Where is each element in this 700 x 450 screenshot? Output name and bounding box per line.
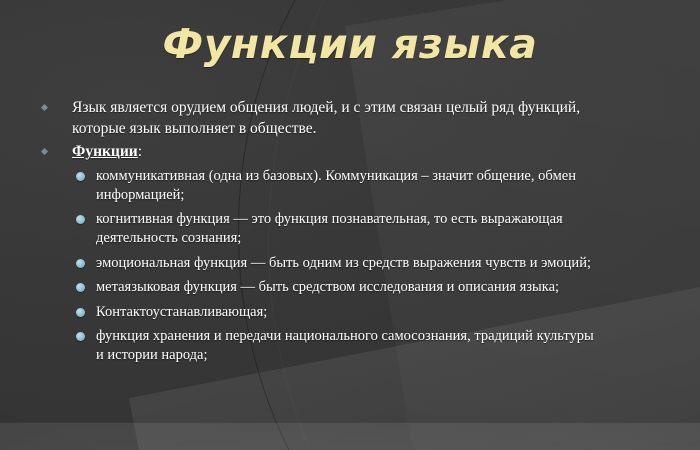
list-item: эмоциональная функция — быть одним из ср… [0,254,700,273]
list-item: Язык является орудием общения людей, и с… [0,98,700,139]
slide-title: Функции языка [0,20,700,68]
circle-bullet-icon [76,308,85,317]
list-item-text: Язык является орудием общения людей, и с… [72,99,580,137]
list-item-text: Контактоустанавливающая; [96,304,267,320]
list-item: Контактоустанавливающая; [0,303,700,322]
slide-body: Язык является орудием общения людей, и с… [0,98,700,371]
list-item: когнитивная функция — это функция познав… [0,210,700,248]
list-item-text: эмоциональная функция — быть одним из ср… [96,255,591,271]
bullet-list-level1: Язык является орудием общения людей, и с… [0,98,700,163]
list-item: метаязыковая функция — быть средством ис… [0,278,700,297]
circle-bullet-icon [76,332,85,341]
presentation-slide: Функции языка Язык является орудием обще… [0,0,700,450]
circle-bullet-icon [76,215,85,224]
diamond-bullet-icon [41,148,48,155]
list-item: функция хранения и передачи национальног… [0,327,700,365]
list-item: Функции: [0,142,700,163]
functions-heading-suffix: : [138,143,142,160]
circle-bullet-icon [76,172,85,181]
diamond-bullet-icon [41,104,48,111]
slide-content: Функции языка Язык является орудием обще… [0,0,700,450]
list-item-text: функция хранения и передачи национальног… [96,328,594,363]
list-item: коммуникативная (одна из базовых). Комму… [0,167,700,205]
functions-heading-label: Функции [72,143,138,160]
circle-bullet-icon [76,283,85,292]
bullet-list-level2: коммуникативная (одна из базовых). Комму… [0,167,700,366]
list-item-text: метаязыковая функция — быть средством ис… [96,279,559,295]
list-item-text: когнитивная функция — это функция познав… [96,211,563,246]
list-item-text: коммуникативная (одна из базовых). Комму… [96,168,576,203]
circle-bullet-icon [76,259,85,268]
